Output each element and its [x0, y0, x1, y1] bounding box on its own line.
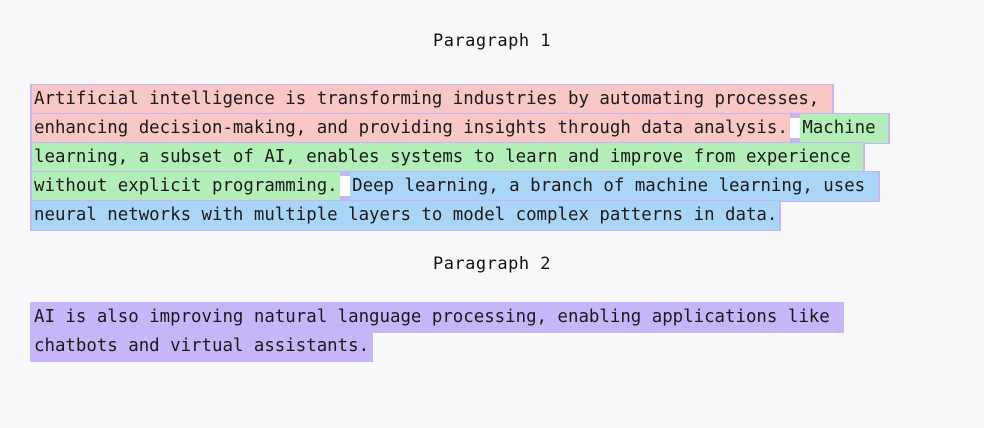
- paragraph-2-band: AI is also improving natural language pr…: [30, 302, 844, 362]
- paragraph-1-band: Artificial intelligence is transforming …: [30, 84, 890, 231]
- document-page: Paragraph 1 Artificial intelligence is t…: [0, 0, 984, 428]
- paragraph-1-text: Artificial intelligence is transforming …: [30, 81, 912, 234]
- sentence-gap: [340, 176, 350, 196]
- paragraph-1-block: Artificial intelligence is transforming …: [30, 81, 954, 234]
- paragraph-2-heading: Paragraph 2: [0, 234, 984, 273]
- sentence-highlight-purple[interactable]: AI is also improving natural language pr…: [32, 303, 842, 361]
- paragraph-2-block: AI is also improving natural language pr…: [30, 299, 954, 365]
- paragraph-2-text: AI is also improving natural language pr…: [30, 299, 912, 365]
- paragraph-1-heading: Paragraph 1: [0, 0, 984, 50]
- sentence-gap: [790, 118, 800, 138]
- sentence-highlight-pink[interactable]: Artificial intelligence is transforming …: [32, 85, 832, 143]
